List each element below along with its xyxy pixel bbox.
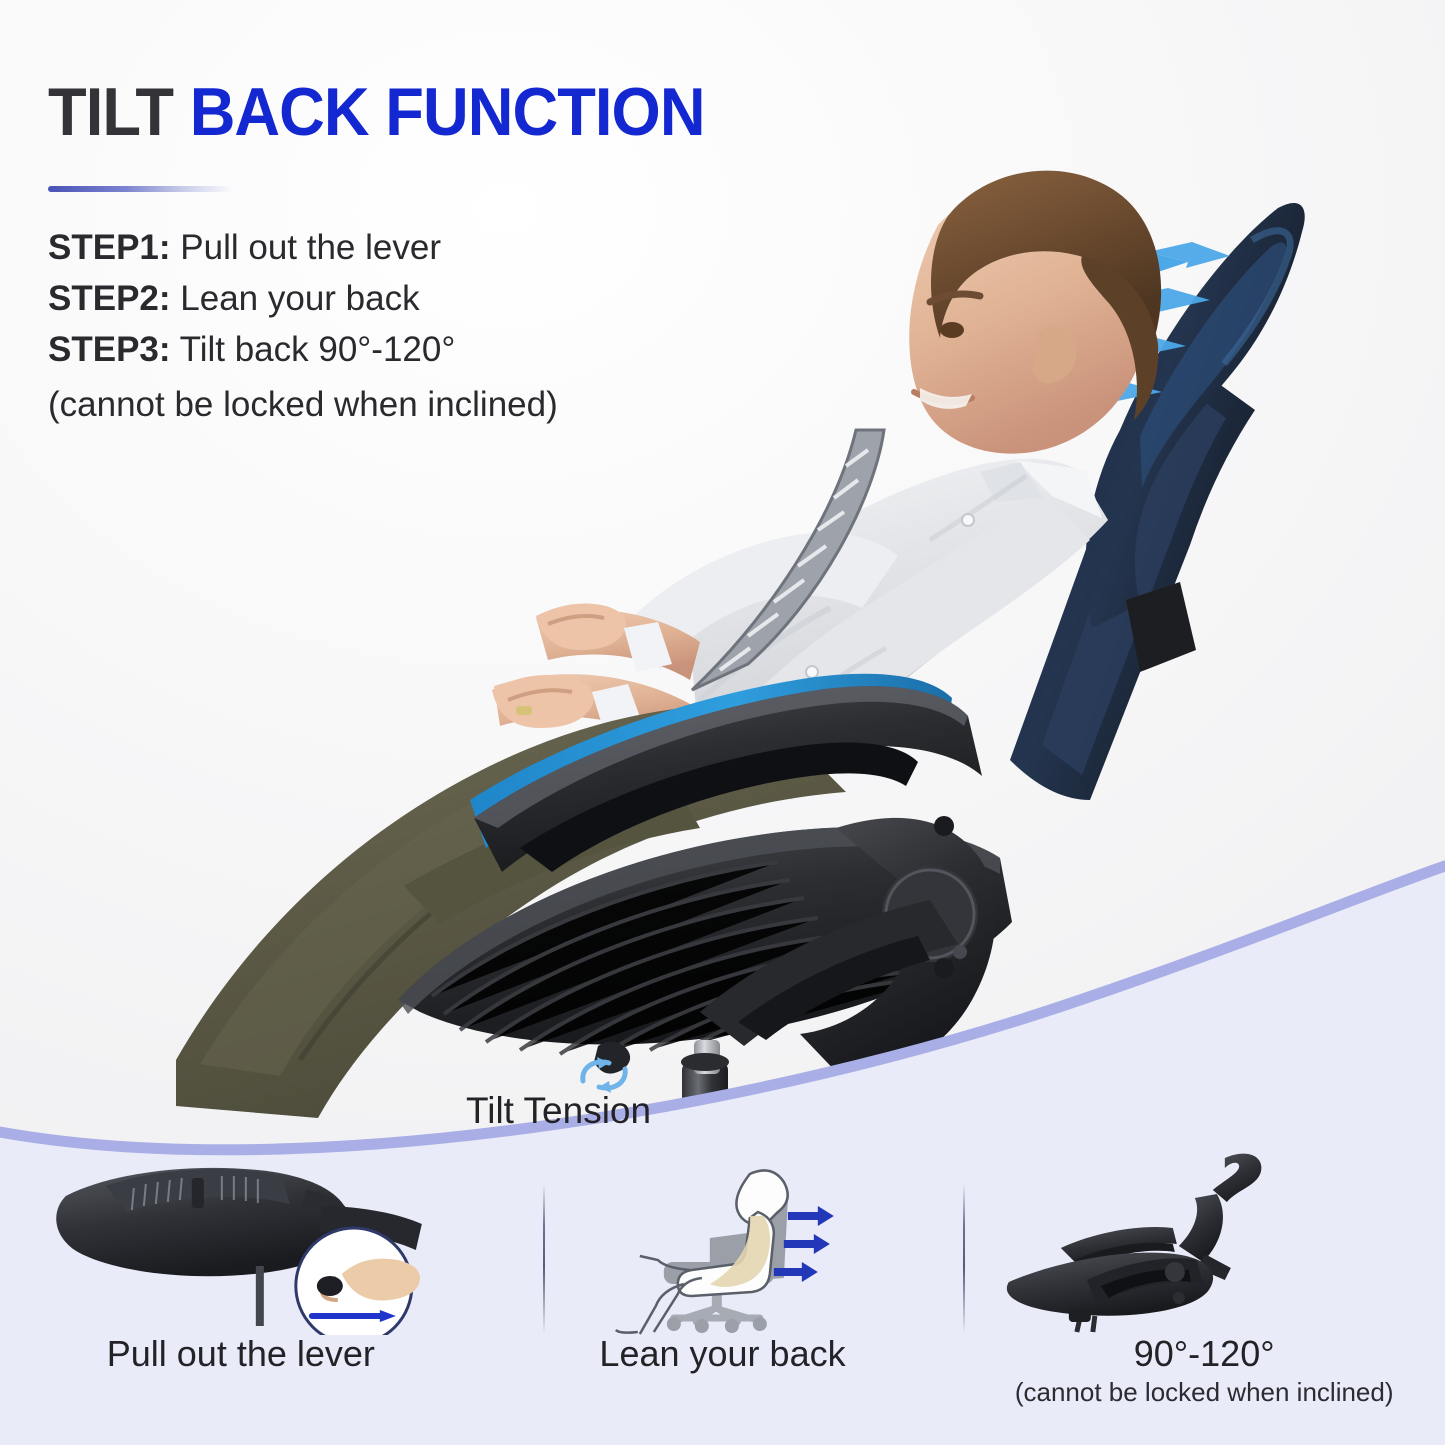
bottom-cell-tilt-angle: 90°-120° (cannot be locked when inclined… bbox=[963, 1150, 1445, 1445]
title-part-blue: BACK FUNCTION bbox=[190, 74, 705, 150]
step-2-label: STEP2: bbox=[48, 279, 171, 318]
person-leaning-back-diagram bbox=[482, 1150, 964, 1335]
bottom-caption-3: 90°-120° bbox=[1134, 1335, 1275, 1373]
cell-separator-2 bbox=[963, 1184, 965, 1334]
step-3-text: Tilt back 90°-120° bbox=[171, 330, 456, 369]
chair-reclined-side-photo bbox=[963, 1150, 1445, 1335]
bottom-cell-pull-lever: Pull out the lever bbox=[0, 1150, 482, 1445]
tilt-tension-label: Tilt Tension bbox=[466, 1090, 651, 1132]
step-row-3: STEP3: Tilt back 90°-120° bbox=[48, 324, 558, 375]
title-part-dark: TILT bbox=[48, 74, 190, 150]
cell-separator-1 bbox=[543, 1184, 545, 1334]
bottom-caption-2: Lean your back bbox=[599, 1335, 845, 1373]
step-3-label: STEP3: bbox=[48, 330, 171, 369]
title-underline-rule bbox=[48, 186, 233, 192]
step-2-text: Lean your back bbox=[171, 279, 420, 318]
page-title: TILT BACK FUNCTION bbox=[48, 78, 978, 146]
bottom-caption-1: Pull out the lever bbox=[107, 1335, 375, 1373]
circular-arrows-icon bbox=[575, 1055, 633, 1095]
steps-list: STEP1: Pull out the lever STEP2: Lean yo… bbox=[48, 222, 558, 430]
hero-photo bbox=[0, 0, 1445, 1160]
step-1-text: Pull out the lever bbox=[171, 228, 441, 267]
header: TILT BACK FUNCTION bbox=[48, 78, 1048, 146]
bottom-cell-lean-back: Lean your back bbox=[482, 1150, 964, 1445]
step-1-label: STEP1: bbox=[48, 228, 171, 267]
chair-underside-lever-photo bbox=[0, 1150, 482, 1335]
step-row-2: STEP2: Lean your back bbox=[48, 273, 558, 324]
steps-note: (cannot be locked when inclined) bbox=[48, 379, 558, 430]
bottom-steps-strip: Pull out the lever bbox=[0, 1150, 1445, 1445]
product-infographic-poster: TILT BACK FUNCTION STEP1: Pull out the l… bbox=[0, 0, 1445, 1445]
bottom-subcaption-3: (cannot be locked when inclined) bbox=[1015, 1377, 1394, 1408]
step-row-1: STEP1: Pull out the lever bbox=[48, 222, 558, 273]
